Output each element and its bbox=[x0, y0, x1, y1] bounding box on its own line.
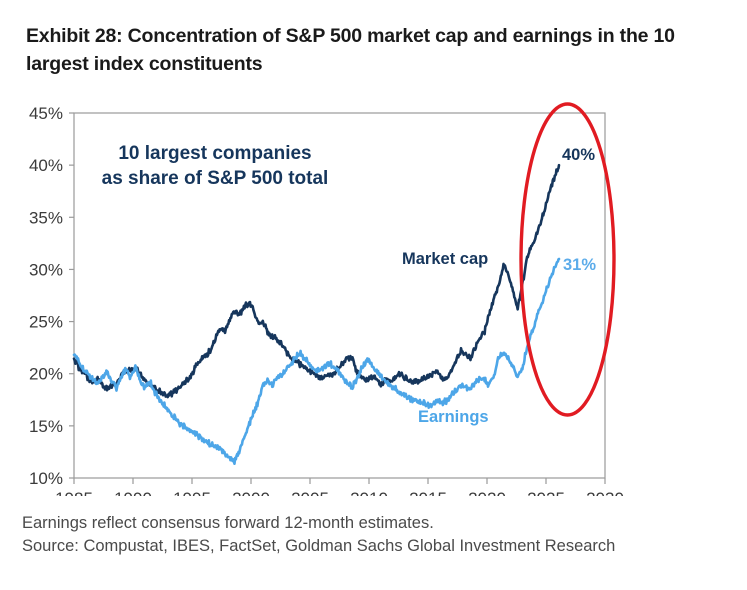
x-axis-tick-label: 2030 bbox=[586, 489, 624, 496]
series-label-market-cap: Market cap bbox=[402, 250, 488, 268]
footnote-source: Source: Compustat, IBES, FactSet, Goldma… bbox=[22, 535, 732, 558]
page-title: Exhibit 28: Concentration of S&P 500 mar… bbox=[26, 22, 726, 78]
x-axis-tick-label: 2015 bbox=[409, 489, 447, 496]
y-axis-tick-label: 25% bbox=[29, 313, 63, 332]
y-axis-tick-label: 40% bbox=[29, 156, 63, 175]
x-axis-tick-label: 1985 bbox=[55, 489, 93, 496]
x-axis-tick-label: 2010 bbox=[350, 489, 388, 496]
exhibit-figure: Exhibit 28: Concentration of S&P 500 mar… bbox=[0, 0, 747, 590]
annotation-line-1: 10 largest companies bbox=[118, 143, 311, 164]
y-axis-tick-label: 35% bbox=[29, 208, 63, 227]
series-label-earnings: Earnings bbox=[418, 408, 489, 426]
x-axis-tick-label: 2025 bbox=[527, 489, 565, 496]
footnotes: Earnings reflect consensus forward 12-mo… bbox=[22, 512, 732, 558]
y-axis-tick-label: 45% bbox=[29, 104, 63, 123]
chart-container: 10%15%20%25%30%35%40%45% 198519901995200… bbox=[0, 96, 747, 496]
x-axis-tick-label: 2020 bbox=[468, 489, 506, 496]
y-axis-tick-label: 20% bbox=[29, 365, 63, 384]
concentration-line-chart: 10%15%20%25%30%35%40%45% 198519901995200… bbox=[0, 96, 747, 496]
x-axis-tick-label: 1995 bbox=[173, 489, 211, 496]
y-axis-tick-label: 10% bbox=[29, 469, 63, 488]
end-value-market-cap: 40% bbox=[562, 146, 595, 164]
footnote-estimates: Earnings reflect consensus forward 12-mo… bbox=[22, 512, 732, 535]
annotation-line-2: as share of S&P 500 total bbox=[102, 168, 329, 189]
x-axis-tick-label: 1990 bbox=[114, 489, 152, 496]
x-axis-tick-label: 2000 bbox=[232, 489, 270, 496]
x-axis-tick-label: 2005 bbox=[291, 489, 329, 496]
y-axis-ticks: 10%15%20%25%30%35%40%45% bbox=[29, 104, 74, 488]
y-axis-tick-label: 15% bbox=[29, 417, 63, 436]
x-axis-ticks: 1985199019952000200520102015202020252030 bbox=[55, 478, 624, 496]
y-axis-tick-label: 30% bbox=[29, 260, 63, 279]
end-value-earnings: 31% bbox=[563, 256, 596, 274]
